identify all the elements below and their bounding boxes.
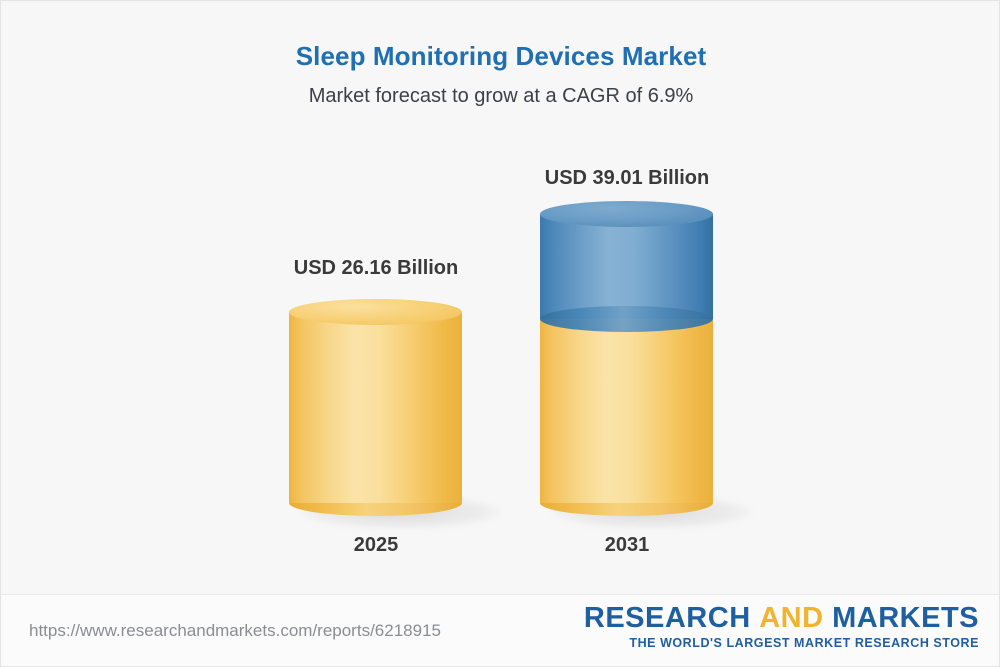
bar-category-label-2031: 2031: [527, 534, 727, 557]
logo-word-markets: MARKETS: [832, 602, 979, 634]
chart-plot-area: USD 26.16 Billion USD 39.01 Billion 2025…: [1, 1, 1000, 601]
bar-value-label-2031: USD 39.01 Billion: [527, 167, 727, 190]
logo-word-research: RESEARCH: [584, 602, 751, 634]
chart-canvas: Sleep Monitoring Devices Market Market f…: [0, 0, 1000, 667]
bar-2025-top-cap: [289, 299, 462, 325]
logo-word-and: AND: [759, 602, 823, 634]
bar-2031-segment-base: [540, 319, 713, 503]
bar-2031[interactable]: [540, 201, 713, 516]
bar-value-label-2025: USD 26.16 Billion: [276, 257, 476, 280]
bar-2031-segment-growth: [540, 214, 713, 319]
bar-category-label-2025: 2025: [276, 534, 476, 557]
bar-2025-segment-base: [289, 312, 462, 503]
bar-2031-growth-bottom-cap: [540, 306, 713, 332]
research-and-markets-logo[interactable]: RESEARCH AND MARKETS THE WORLD'S LARGEST…: [584, 603, 979, 650]
logo-tagline: THE WORLD'S LARGEST MARKET RESEARCH STOR…: [584, 636, 979, 650]
footer: https://www.researchandmarkets.com/repor…: [1, 594, 1000, 666]
bar-2025[interactable]: [289, 299, 462, 516]
logo-wordmark: RESEARCH AND MARKETS: [584, 603, 979, 633]
report-url-link[interactable]: https://www.researchandmarkets.com/repor…: [29, 621, 441, 641]
bar-2031-top-cap: [540, 201, 713, 227]
